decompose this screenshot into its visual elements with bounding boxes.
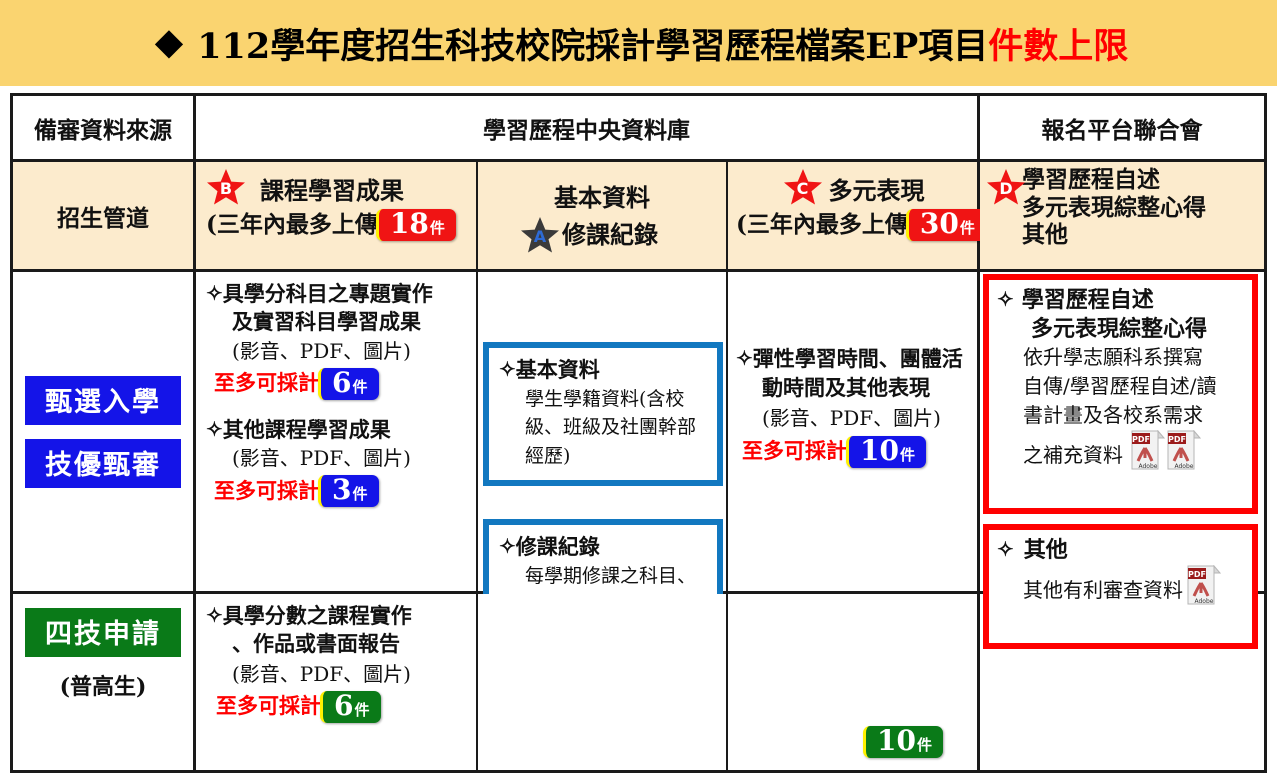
row1-diverse-cell: ✧ 彈性學習時間、團體活 動時間及其他表現 (影音、PDF、圖片) 至多可採計 … bbox=[728, 272, 980, 591]
star-badge-b-label: B bbox=[206, 168, 246, 206]
row1-course-item-1-line2: 及實習科目學習成果 bbox=[206, 308, 468, 336]
row2-course-item-line1: 具學分數之課程實作 bbox=[223, 602, 412, 630]
header-col-records-title: 修課紀錄 bbox=[562, 218, 658, 251]
svg-text:PDF: PDF bbox=[1168, 435, 1186, 444]
badge-row1-course-item-2-unit: 件 bbox=[352, 487, 367, 502]
badge-row1-diverse-count: 10 件 bbox=[846, 436, 926, 468]
header-source-label: 備審資料來源 bbox=[34, 111, 172, 145]
badge-row1-course-item-1-unit: 件 bbox=[352, 380, 367, 395]
badge-row2-course-count: 6 件 bbox=[320, 691, 381, 723]
badge-course-upload-limit: 18 件 bbox=[376, 209, 456, 241]
diamond-bullet-icon: ✧ bbox=[997, 286, 1014, 315]
badge-course-upload-limit-unit: 件 bbox=[430, 221, 445, 236]
diamond-bullet-icon: ✧ bbox=[206, 416, 223, 444]
header-platform-line-2: 多元表現綜整心得 bbox=[1022, 194, 1206, 222]
box-basic-info: ✧ 基本資料 學生學籍資料(含校級、班級及社團幹部經歷) bbox=[483, 342, 723, 486]
row1-diverse-line2: 動時間及其他表現 bbox=[736, 373, 971, 402]
diamond-bullet-icon: ✧ bbox=[736, 344, 753, 373]
table-row: 甄選入學 技優甄審 ✧ 具學分科目之專題實作 及實習科目學習成果 (影音、PDF… bbox=[13, 272, 1264, 594]
box-learning-narrative-body-2: 自傳/學習歷程自述/讀 bbox=[997, 372, 1244, 401]
box-learning-narrative: ✧ 學習歷程自述 多元表現綜整心得 依升學志願科系撰寫 自傳/學習歷程自述/讀 … bbox=[983, 274, 1258, 514]
star-badge-d-icon: D bbox=[986, 168, 1026, 206]
header-col-basic-records: 基本資料 A 修課紀錄 bbox=[478, 162, 728, 269]
box-basic-info-title: 基本資料 bbox=[516, 356, 600, 385]
badge-row1-course-item-1-count: 6 件 bbox=[318, 368, 379, 400]
title-row: ◆ 112學年度招生科技校院採計學習歷程檔案EP項目件數上限 bbox=[149, 18, 1129, 69]
row2-course-limit-label: 至多可採計 bbox=[216, 692, 321, 721]
channel-chip-selection-admission[interactable]: 甄選入學 bbox=[25, 376, 181, 425]
title-banner: ◆ 112學年度招生科技校院採計學習歷程檔案EP項目件數上限 bbox=[0, 0, 1277, 86]
row1-channel-cell: 甄選入學 技優甄審 bbox=[13, 272, 196, 591]
page-title: 112學年度招生科技校院採計學習歷程檔案EP項目件數上限 bbox=[197, 18, 1128, 69]
row1-course-item-1-limit-label: 至多可採計 bbox=[214, 369, 319, 398]
header-col-diverse-performance: C 多元表現 (三年內最多上傳 30 件 bbox=[728, 162, 980, 269]
badge-row1-diverse-number: 10 bbox=[860, 437, 899, 465]
svg-text:PDF: PDF bbox=[1188, 570, 1206, 579]
row1-platform-cell: ✧ 學習歷程自述 多元表現綜整心得 依升學志願科系撰寫 自傳/學習歷程自述/讀 … bbox=[980, 272, 1264, 591]
badge-diverse-upload-limit-unit: 件 bbox=[960, 221, 975, 236]
badge-diverse-upload-limit: 30 件 bbox=[906, 209, 986, 241]
diamond-bullet-icon: ✧ bbox=[206, 602, 223, 630]
header-group-central-db-label: 學習歷程中央資料庫 bbox=[483, 111, 690, 145]
page-title-highlight: 件數上限 bbox=[988, 26, 1128, 67]
box-learning-narrative-title2: 多元表現綜整心得 bbox=[997, 315, 1244, 344]
star-badge-a-label: A bbox=[520, 216, 560, 254]
box-other-materials: ✧ 其他 其他有利審查資料 PDFAdobe bbox=[983, 524, 1258, 649]
channel-chip-skill-excellence[interactable]: 技優甄審 bbox=[25, 439, 181, 488]
row2-course-item-formats: (影音、PDF、圖片) bbox=[206, 659, 468, 689]
diamond-bullet-icon: ◆ bbox=[155, 23, 183, 60]
header-col-diverse-subtitle: (三年內最多上傳 bbox=[736, 209, 908, 241]
row1-course-item-1-formats: (影音、PDF、圖片) bbox=[206, 337, 468, 366]
row1-course-results-cell: ✧ 具學分科目之專題實作 及實習科目學習成果 (影音、PDF、圖片) 至多可採計… bbox=[196, 272, 478, 591]
channel-chip-subnote: (普高生) bbox=[60, 669, 147, 701]
diamond-bullet-icon: ✧ bbox=[997, 536, 1014, 565]
box-course-records-title: 修課紀錄 bbox=[516, 533, 600, 562]
header-group-platform-label: 報名平台聯合會 bbox=[1042, 111, 1203, 145]
table-header-row-1: 備審資料來源 學習歷程中央資料庫 報名平台聯合會 bbox=[13, 96, 1264, 162]
badge-row2-diverse-count: 10 件 bbox=[863, 726, 943, 758]
header-channel-label-cell: 招生管道 bbox=[13, 162, 196, 269]
row1-diverse-line1: 彈性學習時間、團體活 bbox=[753, 344, 963, 373]
svg-text:Adobe: Adobe bbox=[1139, 463, 1158, 470]
badge-row2-course-unit: 件 bbox=[354, 703, 369, 718]
header-source-label-cell: 備審資料來源 bbox=[13, 96, 196, 159]
diamond-bullet-icon: ✧ bbox=[499, 533, 516, 562]
box-other-materials-title: 其他 bbox=[1024, 536, 1068, 565]
badge-row1-course-item-2-count: 3 件 bbox=[318, 475, 379, 507]
row1-course-item-2-limit-label: 至多可採計 bbox=[214, 477, 319, 506]
row2-course-results-cell: ✧ 具學分數之課程實作 、作品或書面報告 (影音、PDF、圖片) 至多可採計 6… bbox=[196, 594, 478, 770]
pdf-file-icon: PDFAdobe bbox=[1167, 430, 1201, 470]
diamond-bullet-icon: ✧ bbox=[206, 280, 223, 308]
badge-row2-diverse-number: 10 bbox=[877, 727, 916, 755]
row1-diverse-formats: (影音、PDF、圖片) bbox=[736, 403, 971, 433]
badge-row2-course-number: 6 bbox=[334, 692, 353, 720]
svg-text:Adobe: Adobe bbox=[1195, 598, 1214, 605]
row2-course-item-line2: 、作品或書面報告 bbox=[206, 630, 468, 658]
row2-diverse-cell: 10 件 bbox=[728, 594, 980, 770]
slide-page: ◆ 112學年度招生科技校院採計學習歷程檔案EP項目件數上限 備審資料來源 學習… bbox=[0, 0, 1277, 782]
header-col-course-results: B 課程學習成果 (三年內最多上傳 18 件 bbox=[196, 162, 478, 269]
row2-channel-cell: 四技申請 (普高生) bbox=[13, 594, 196, 770]
row1-course-item-1-line1: 具學分科目之專題實作 bbox=[223, 280, 433, 308]
table-header-row-2: 招生管道 B 課程學習成果 (三年內最多上傳 18 bbox=[13, 162, 1264, 272]
svg-text:PDF: PDF bbox=[1132, 435, 1150, 444]
star-badge-c-icon: C bbox=[783, 168, 823, 206]
header-col-basic-title: 基本資料 bbox=[554, 181, 650, 214]
eportfolio-limits-table: 備審資料來源 學習歷程中央資料庫 報名平台聯合會 招生管道 B bbox=[10, 93, 1267, 773]
row1-diverse-limit-label: 至多可採計 bbox=[742, 437, 847, 466]
row2-basic-records-cell bbox=[478, 594, 728, 770]
badge-course-upload-limit-count: 18 bbox=[390, 210, 429, 238]
star-badge-d-label: D bbox=[986, 168, 1026, 206]
header-group-platform: 報名平台聯合會 bbox=[980, 96, 1264, 159]
svg-text:Adobe: Adobe bbox=[1175, 463, 1194, 470]
header-col-platform-items: D 學習歷程自述 多元表現綜整心得 其他 bbox=[980, 162, 1264, 269]
row1-course-item-1: ✧ 具學分科目之專題實作 及實習科目學習成果 (影音、PDF、圖片) 至多可採計… bbox=[206, 280, 468, 400]
header-col-diverse-title: 多元表現 bbox=[829, 174, 925, 207]
badge-row1-course-item-2-number: 3 bbox=[332, 476, 351, 504]
badge-diverse-upload-limit-count: 30 bbox=[920, 210, 959, 238]
header-platform-line-3: 其他 bbox=[1022, 221, 1206, 249]
box-learning-narrative-title1: 學習歷程自述 bbox=[1022, 286, 1154, 315]
pdf-file-icon: PDFAdobe bbox=[1131, 430, 1165, 470]
badge-row1-diverse-unit: 件 bbox=[900, 448, 915, 463]
pdf-file-icon: PDFAdobe bbox=[1187, 565, 1221, 605]
diamond-bullet-icon: ✧ bbox=[499, 356, 516, 385]
badge-row1-course-item-1-number: 6 bbox=[332, 369, 351, 397]
channel-chip-four-year-application[interactable]: 四技申請 bbox=[25, 608, 181, 657]
box-learning-narrative-body-1: 依升學志願科系撰寫 bbox=[997, 343, 1244, 372]
header-col-course-subtitle: (三年內最多上傳 bbox=[206, 209, 378, 241]
badge-row2-diverse-unit: 件 bbox=[917, 738, 932, 753]
star-badge-c-label: C bbox=[783, 168, 823, 206]
row1-course-item-2-formats: (影音、PDF、圖片) bbox=[206, 444, 468, 473]
box-learning-narrative-body-4: 之補充資料 bbox=[997, 441, 1123, 470]
page-title-main: 112學年度招生科技校院採計學習歷程檔案EP項目 bbox=[197, 26, 988, 67]
header-platform-line-1: 學習歷程自述 bbox=[1022, 166, 1206, 194]
row1-course-item-2-line1: 其他課程學習成果 bbox=[223, 416, 391, 444]
header-channel-label: 招生管道 bbox=[13, 162, 193, 269]
box-learning-narrative-body-3: 書計畫及各校系需求 bbox=[997, 401, 1244, 430]
box-basic-info-body: 學生學籍資料(含校級、班級及社團幹部經歷) bbox=[499, 385, 707, 471]
header-col-course-title: 課程學習成果 bbox=[260, 174, 404, 207]
header-group-central-db: 學習歷程中央資料庫 bbox=[196, 96, 980, 159]
row1-basic-records-cell: ✧ 基本資料 學生學籍資料(含校級、班級及社團幹部經歷) ✧ 修課紀錄 每學期修… bbox=[478, 272, 728, 591]
box-other-materials-body: 其他有利審查資料 bbox=[997, 576, 1183, 605]
star-badge-a-icon: A bbox=[520, 216, 560, 254]
star-badge-b-icon: B bbox=[206, 168, 246, 206]
row1-course-item-2: ✧ 其他課程學習成果 (影音、PDF、圖片) 至多可採計 3 件 bbox=[206, 416, 468, 507]
